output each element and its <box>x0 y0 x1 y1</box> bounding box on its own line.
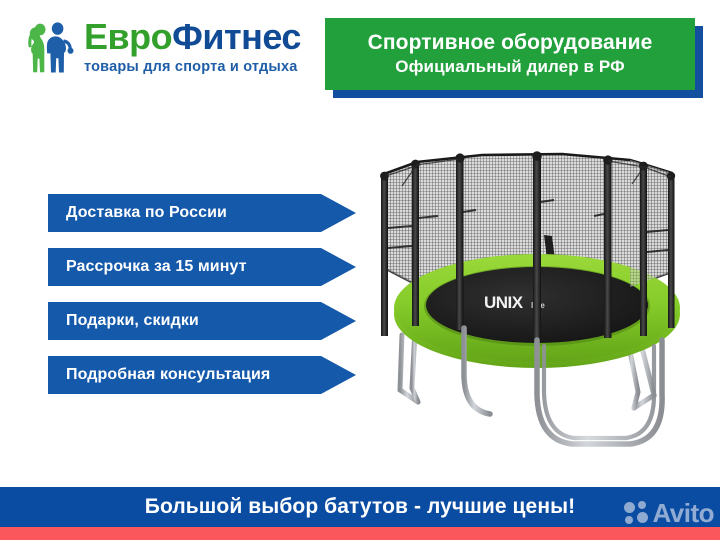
logo-word-blue: Фитнес <box>172 16 301 57</box>
footer-headline: Большой выбор батутов - лучшие цены! <box>145 495 576 519</box>
feature-label: Подробная консультация <box>48 366 270 384</box>
footer-accent-stripe <box>0 527 720 540</box>
feature-label: Подарки, скидки <box>48 312 199 330</box>
footer-banner: Большой выбор батутов - лучшие цены! <box>0 487 720 527</box>
logo-word-green: Евро <box>84 16 172 57</box>
product-brand-mark: UNIX <box>484 293 524 312</box>
feature-arrow-gifts: Подарки, скидки <box>48 302 356 340</box>
avito-watermark: Avito <box>624 496 714 530</box>
feature-label: Рассрочка за 15 минут <box>48 258 247 276</box>
feature-arrow-consultation: Подробная консультация <box>48 356 356 394</box>
feature-label: Доставка по России <box>48 204 227 222</box>
product-image-trampoline: UNIX line <box>372 140 712 470</box>
advertisement-banner: ЕвроФитнес товары для спорта и отдыха Сп… <box>0 0 720 540</box>
avito-dots-icon <box>624 501 650 525</box>
feature-list: Доставка по России Рассрочка за 15 минут… <box>48 194 358 410</box>
logo-wordmark: ЕвроФитнес товары для спорта и отдыха <box>84 16 322 76</box>
header-banner-body: Спортивное оборудование Официальный диле… <box>325 18 695 90</box>
header-banner-line2: Официальный дилер в РФ <box>395 56 625 78</box>
logo-tagline: товары для спорта и отдыха <box>84 59 298 75</box>
header-banner-line1: Спортивное оборудование <box>368 30 653 56</box>
header: ЕвроФитнес товары для спорта и отдыха Сп… <box>0 0 720 110</box>
header-banner: Спортивное оборудование Официальный диле… <box>325 18 703 98</box>
feature-arrow-delivery: Доставка по России <box>48 194 356 232</box>
avito-wordmark: Avito <box>652 500 714 526</box>
company-logo: ЕвроФитнес товары для спорта и отдыха <box>22 16 322 90</box>
two-athletes-silhouette-icon <box>22 18 84 80</box>
feature-arrow-installment: Рассрочка за 15 минут <box>48 248 356 286</box>
